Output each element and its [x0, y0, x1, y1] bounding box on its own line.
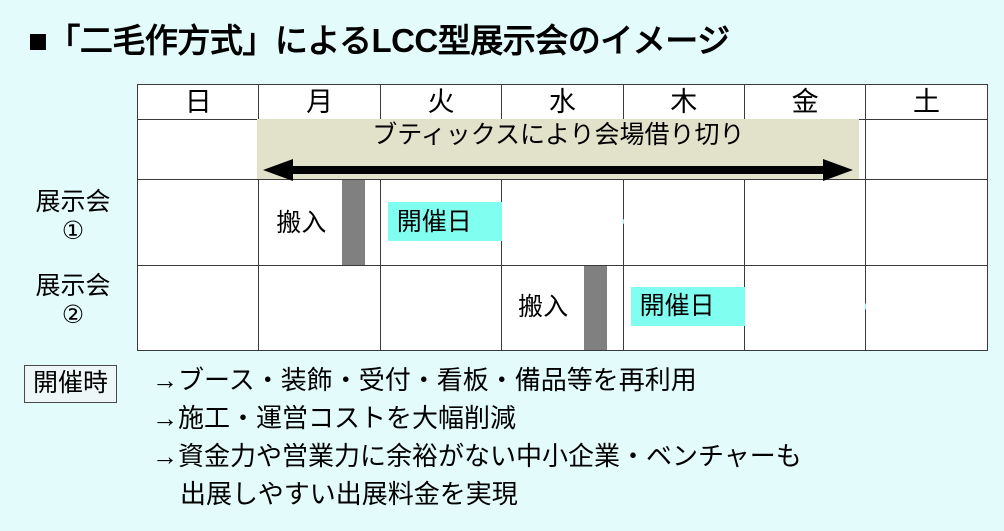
row-caption-exhibition-1: 展示会 ①: [12, 188, 134, 246]
ev2-cell-sat: [866, 266, 987, 351]
row-caption-2-name: 展示会: [35, 272, 110, 300]
ev1-cell-wed: [502, 180, 623, 266]
note-line-1: →ブース・装飾・受付・看板・備品等を再利用: [152, 361, 992, 399]
venue-band-label: ブティックスにより会場借り切り: [257, 120, 859, 151]
exhibition-1-row: 搬入 開催日: [138, 180, 988, 266]
row-caption-exhibition-2: 展示会 ②: [12, 272, 134, 330]
venue-cell-sun: [138, 120, 259, 180]
schedule-grid: 日 月 火 水 木 金 土: [137, 84, 980, 350]
exhibition-2-row: 搬入 開催日: [138, 266, 988, 351]
ev1-cell-mon: 搬入: [259, 180, 380, 266]
page-title: ■「二毛作方式」によるLCC型展示会のイメージ: [28, 14, 730, 62]
day-label-mon: 月: [259, 86, 379, 119]
ev1-cell-thu: [623, 180, 744, 266]
ev1-cell-tue: 開催日: [380, 180, 501, 266]
venue-cell-sat: [866, 120, 987, 180]
day-label-thu: 木: [624, 86, 744, 119]
day-header-cell-fri: 金: [744, 85, 865, 120]
loadin-bar-icon-2: [584, 266, 607, 350]
event-label-2: 開催日: [640, 291, 715, 321]
note-line-2: →施工・運営コストを大幅削減: [152, 399, 992, 437]
ev2-cell-fri: [744, 266, 865, 351]
day-header-cell-mon: 月: [259, 85, 380, 120]
day-label-wed: 水: [502, 86, 622, 119]
day-label-tue: 火: [381, 86, 501, 119]
note-line-3: →資金力や営業力に余裕がない中小企業・ベンチャーも: [152, 437, 992, 475]
loadin-bar-icon-1: [342, 180, 365, 265]
day-label-sat: 土: [866, 86, 986, 119]
note-lines: →ブース・装飾・受付・看板・備品等を再利用 →施工・運営コストを大幅削減 →資金…: [152, 361, 992, 513]
note-line-4: 出展しやすい出展料金を実現: [152, 475, 992, 513]
day-header-cell-tue: 火: [380, 85, 501, 120]
row-caption-1-name: 展示会: [35, 188, 110, 216]
row-caption-1-number: ①: [12, 217, 134, 246]
event-label-1: 開催日: [397, 207, 472, 237]
ev2-cell-thu: 開催日: [623, 266, 744, 351]
day-header-cell-thu: 木: [623, 85, 744, 120]
ev2-cell-wed: 搬入: [502, 266, 623, 351]
ev2-cell-tue: [380, 266, 501, 351]
ev2-cell-mon: [259, 266, 380, 351]
ev2-cell-sun: [138, 266, 259, 351]
double-arrow-icon: [263, 159, 853, 181]
day-header-cell-sun: 日: [138, 85, 259, 120]
loadin-label-1: 搬入: [276, 208, 326, 238]
day-header-cell-wed: 水: [502, 85, 623, 120]
row-caption-2-number: ②: [12, 301, 134, 330]
ev1-cell-fri: [744, 180, 865, 266]
day-header-cell-sat: 土: [866, 85, 987, 120]
loadin-label-2: 搬入: [518, 292, 568, 322]
ev1-cell-sat: [866, 180, 987, 266]
day-label-sun: 日: [138, 86, 258, 119]
note-box-label: 開催時: [24, 365, 117, 403]
day-label-fri: 金: [745, 86, 865, 119]
day-header-row: 日 月 火 水 木 金 土: [138, 85, 988, 120]
ev1-cell-sun: [138, 180, 259, 266]
